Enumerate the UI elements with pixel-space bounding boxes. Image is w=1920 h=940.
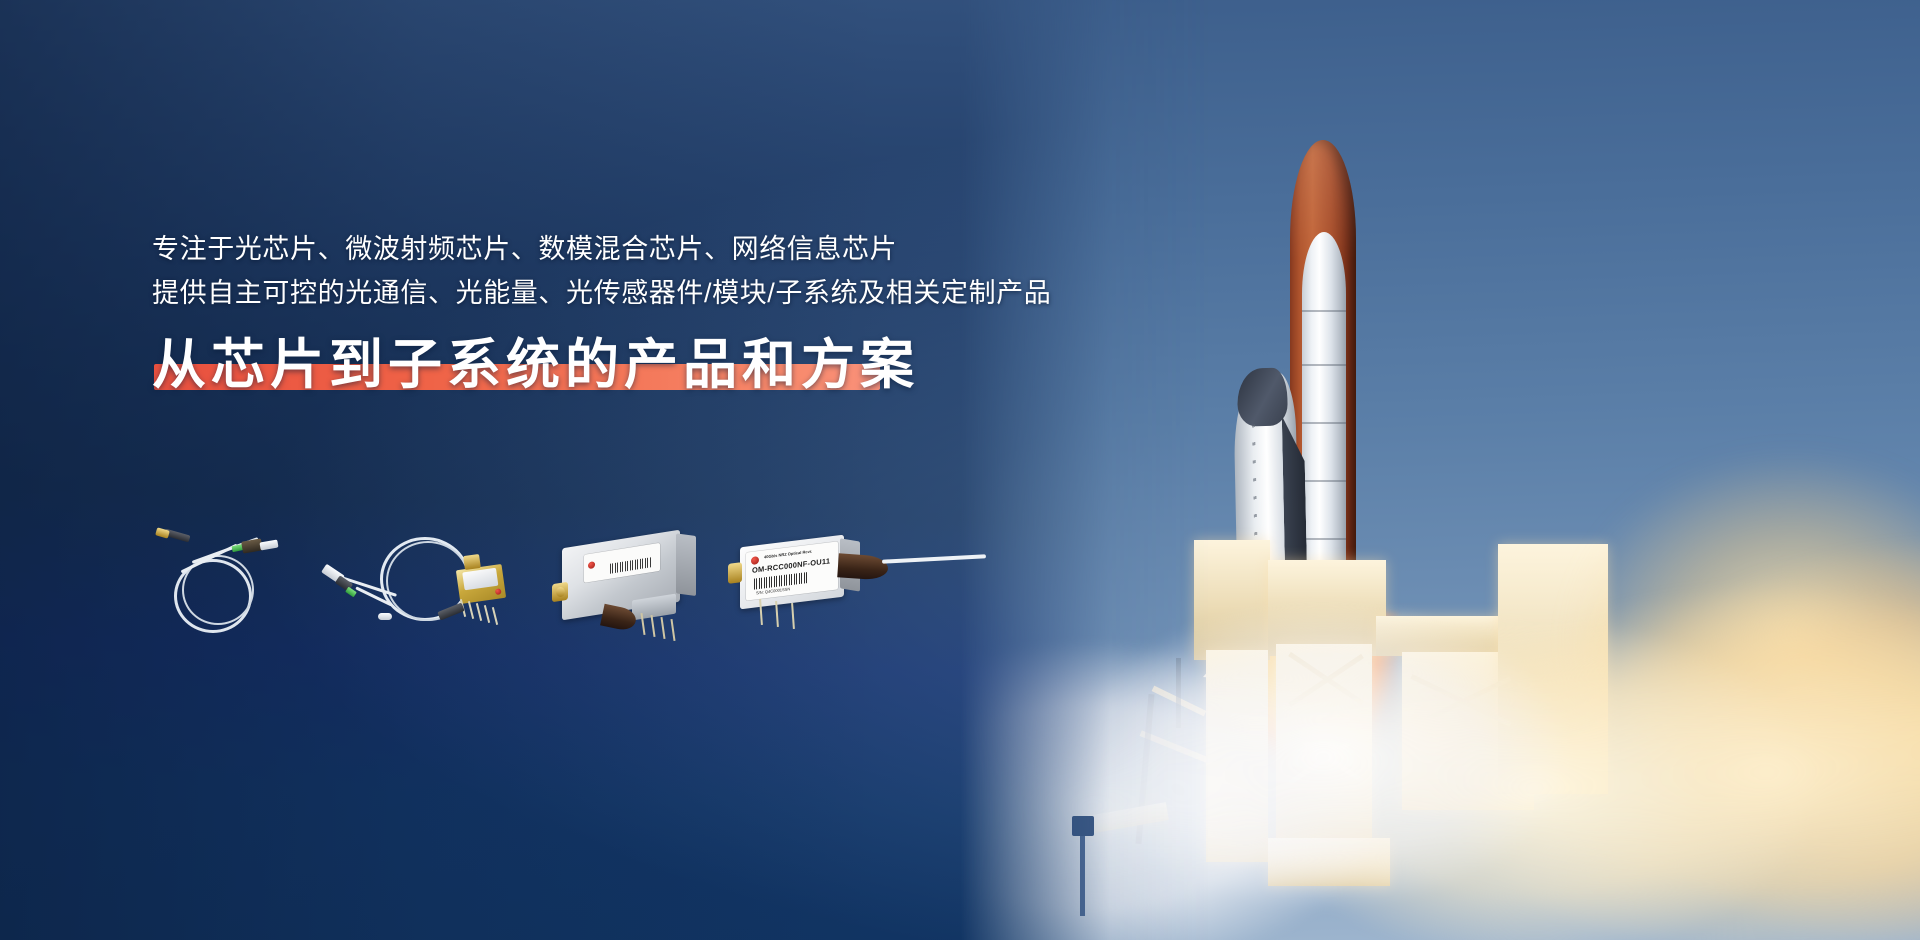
hero-copy: 专注于光芯片、微波射频芯片、数模混合芯片、网络信息芯片 提供自主可控的光通信、光… bbox=[152, 228, 1152, 396]
receiver-label-title: 40Gb/s NRZ Optical Rcvr. bbox=[764, 549, 812, 560]
product-image-strip: 40Gb/s NRZ Optical Rcvr. OM-RCC000NF-OU1… bbox=[150, 527, 990, 652]
butterfly-package bbox=[456, 564, 506, 604]
product-butterfly-laser-module bbox=[318, 533, 528, 645]
product-optical-receiver-module: 40Gb/s NRZ Optical Rcvr. OM-RCC000NF-OU1… bbox=[730, 527, 990, 639]
subtitle-line-2: 提供自主可控的光通信、光能量、光传感器件/模块/子系统及相关定制产品 bbox=[152, 272, 1152, 316]
product-rf-optical-module-box bbox=[550, 535, 720, 639]
page-title: 从芯片到子系统的产品和方案 bbox=[152, 335, 919, 395]
subtitle-line-1: 专注于光芯片、微波射频芯片、数模混合芯片、网络信息芯片 bbox=[152, 228, 1152, 272]
headline-block: 从芯片到子系统的产品和方案 bbox=[152, 335, 919, 395]
product-fiber-pigtail-assembly bbox=[150, 527, 310, 637]
hero-banner: 专注于光芯片、微波射频芯片、数模混合芯片、网络信息芯片 提供自主可控的光通信、光… bbox=[0, 0, 1920, 940]
left-vignette bbox=[0, 0, 1920, 940]
